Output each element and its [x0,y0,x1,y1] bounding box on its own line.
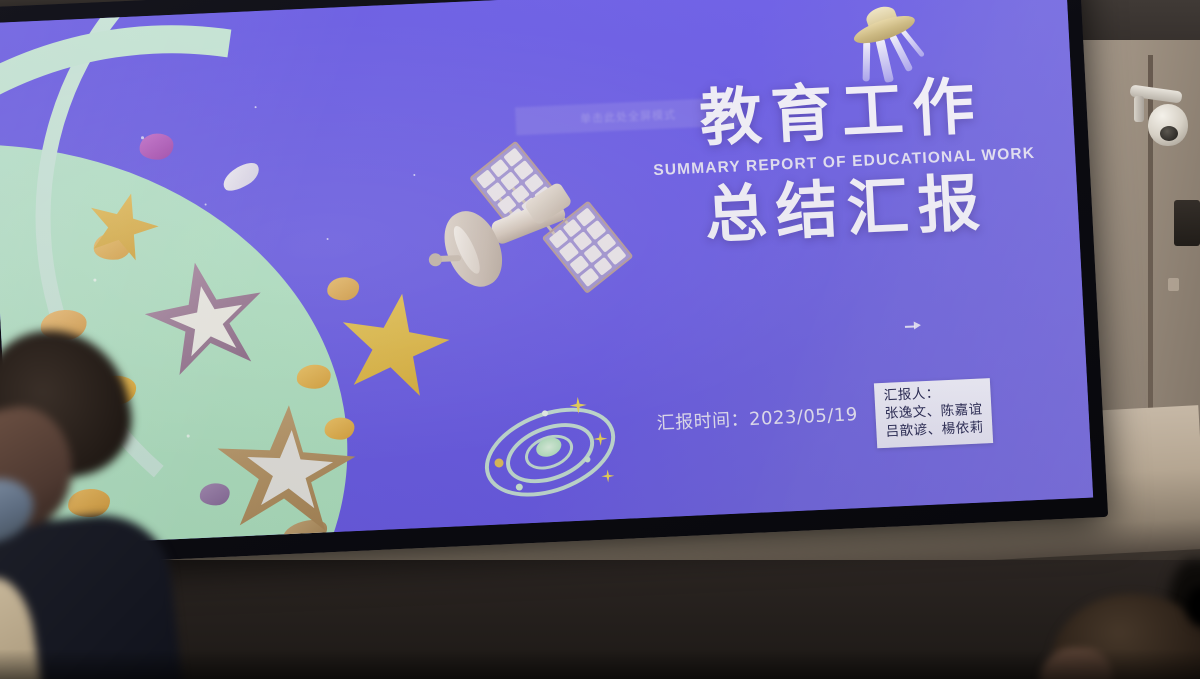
attendee-foreground-right [1040,586,1200,679]
wall-fixture [1174,200,1200,246]
slide-title-block: 教育工作 SUMMARY REPORT OF EDUCATIONAL WORK … [625,71,1063,251]
report-date: 汇报时间：2023/05/19 [655,384,858,435]
security-camera-arm [1134,96,1144,122]
attendee-foreground-left [0,330,230,679]
report-date-value: 2023/05/19 [749,404,859,430]
decor-speck [205,203,207,205]
decor-speck [413,174,415,176]
presenter-box: 汇报人： 张逸文、陈嘉谊 吕歆谚、楊依莉 [874,378,993,449]
camera-lens-icon [1160,126,1178,141]
decor-sparkle [601,469,615,483]
presenter-names-line2: 吕歆谚、楊依莉 [885,419,984,441]
decor-speck [327,238,329,240]
wall-outlet [1168,278,1179,291]
decor-galaxy-icon [475,395,630,507]
mouse-cursor-icon [914,321,921,329]
screenshot-root: 单击此处全屏模式 教育工作 SUMMARY REPORT OF EDUCATIO… [0,0,1200,679]
report-date-label: 汇报时间： [656,409,750,434]
decor-speck [255,106,257,108]
